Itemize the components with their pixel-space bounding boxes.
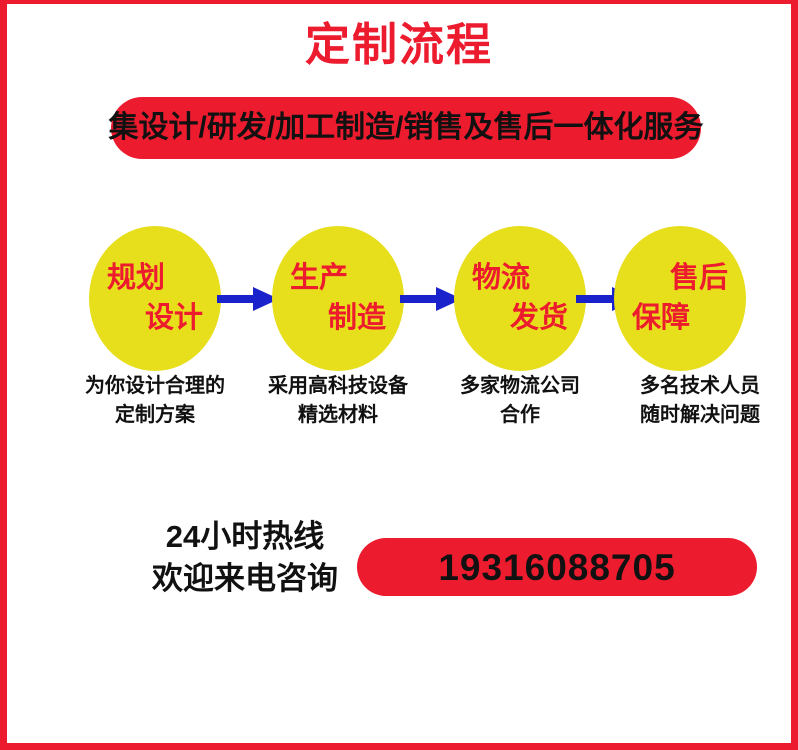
right-arrow-icon-1 bbox=[217, 286, 279, 312]
step-caption-1-line1: 为你设计合理的 bbox=[57, 372, 253, 401]
step-label-1-line2: 设计 bbox=[101, 299, 209, 338]
page-title: 定制流程 bbox=[7, 20, 791, 70]
process-step-3[interactable]: 物流 发货 bbox=[454, 226, 586, 371]
step-label-4-line1: 售后 bbox=[626, 259, 734, 298]
step-caption-4: 多名技术人员 随时解决问题 bbox=[602, 372, 798, 430]
step-label-2: 生产 制造 bbox=[272, 226, 404, 371]
subtitle-banner: 集设计/研发/加工制造/销售及售后一体化服务 bbox=[111, 97, 701, 159]
step-caption-1-line2: 定制方案 bbox=[57, 401, 253, 430]
step-caption-3-line1: 多家物流公司 bbox=[422, 372, 618, 401]
subtitle-text: 集设计/研发/加工制造/销售及售后一体化服务 bbox=[109, 113, 704, 143]
process-flow: 规划 设计 生产 制造 物流 bbox=[7, 226, 798, 371]
step-caption-4-line2: 随时解决问题 bbox=[602, 401, 798, 430]
step-caption-2: 采用高科技设备 精选材料 bbox=[240, 372, 436, 430]
step-label-2-line2: 制造 bbox=[284, 299, 392, 338]
step-label-3: 物流 发货 bbox=[454, 226, 586, 371]
step-label-2-line1: 生产 bbox=[284, 259, 392, 298]
hotline-line-2: 欢迎来电咨询 bbox=[125, 558, 365, 600]
phone-number-badge[interactable]: 19316088705 bbox=[357, 538, 757, 596]
step-label-1-line1: 规划 bbox=[101, 259, 209, 298]
custom-process-poster: 定制流程 集设计/研发/加工制造/销售及售后一体化服务 规划 设计 生产 制造 bbox=[0, 0, 798, 750]
step-label-1: 规划 设计 bbox=[89, 226, 221, 371]
process-step-4[interactable]: 售后 保障 bbox=[614, 226, 746, 371]
hotline-text: 24小时热线 欢迎来电咨询 bbox=[125, 516, 365, 600]
step-caption-3: 多家物流公司 合作 bbox=[422, 372, 618, 430]
process-step-1[interactable]: 规划 设计 bbox=[89, 226, 221, 371]
right-arrow-icon-2 bbox=[400, 286, 462, 312]
phone-number-text: 19316088705 bbox=[438, 549, 675, 586]
step-label-3-line1: 物流 bbox=[466, 259, 574, 298]
step-caption-2-line1: 采用高科技设备 bbox=[240, 372, 436, 401]
process-captions: 为你设计合理的 定制方案 采用高科技设备 精选材料 多家物流公司 合作 多名技术… bbox=[7, 372, 798, 442]
hotline-line-1: 24小时热线 bbox=[125, 516, 365, 558]
step-caption-3-line2: 合作 bbox=[422, 401, 618, 430]
step-caption-1: 为你设计合理的 定制方案 bbox=[57, 372, 253, 430]
step-caption-4-line1: 多名技术人员 bbox=[602, 372, 798, 401]
step-caption-2-line2: 精选材料 bbox=[240, 401, 436, 430]
step-label-3-line2: 发货 bbox=[466, 299, 574, 338]
step-label-4: 售后 保障 bbox=[614, 226, 746, 371]
process-step-2[interactable]: 生产 制造 bbox=[272, 226, 404, 371]
step-label-4-line2: 保障 bbox=[626, 299, 734, 338]
